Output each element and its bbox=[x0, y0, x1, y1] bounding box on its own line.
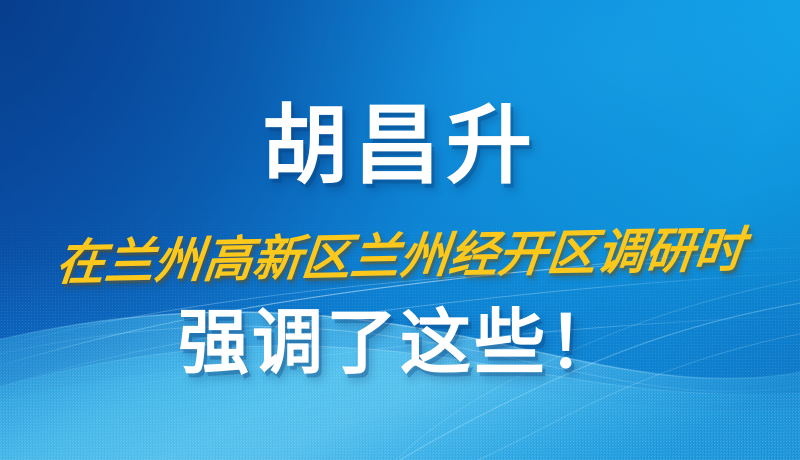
subheadline-script: 在兰州高新区兰州经开区调研时 bbox=[0, 224, 800, 288]
headline-title: 胡昌升 bbox=[0, 103, 800, 189]
text-stack: 胡昌升 在兰州高新区兰州经开区调研时 强调了这些！ bbox=[0, 0, 800, 460]
news-banner: 胡昌升 在兰州高新区兰州经开区调研时 强调了这些！ bbox=[0, 0, 800, 460]
tagline-title: 强调了这些！ bbox=[0, 308, 800, 379]
